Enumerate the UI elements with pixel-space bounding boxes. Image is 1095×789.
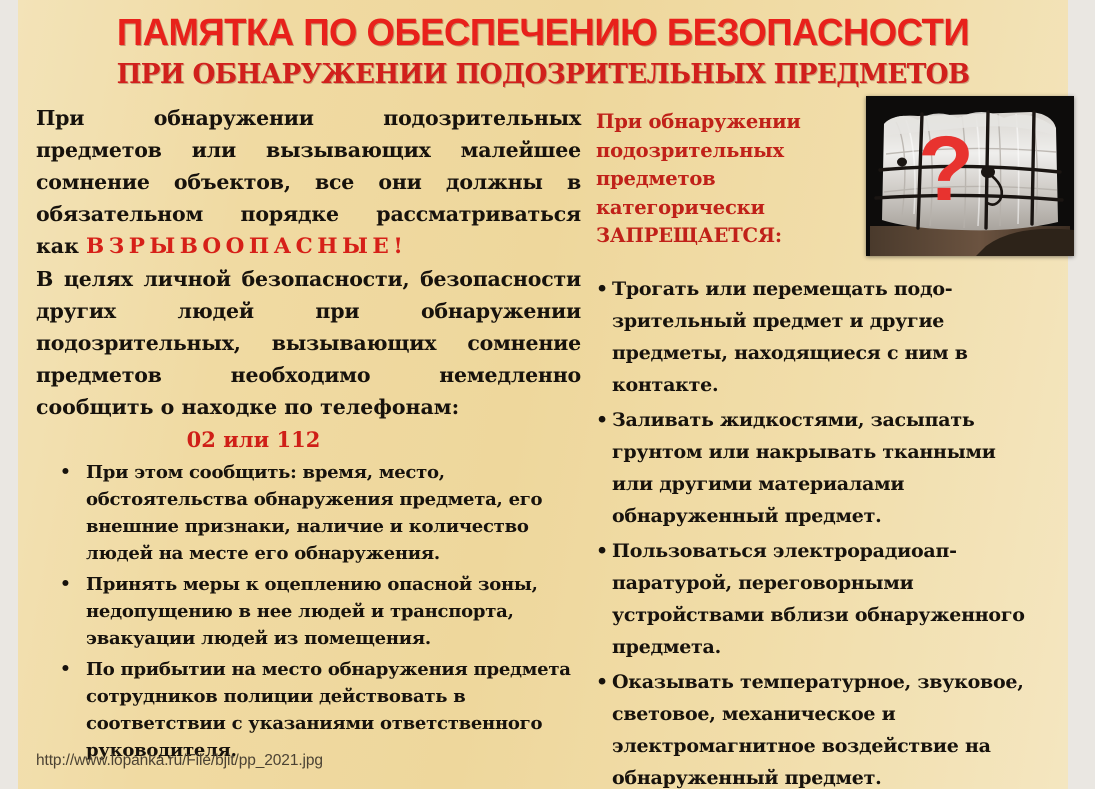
step-line: внешние признаки, наличие и количество [86,513,581,540]
step-line: Принять меры к оцеплению опасной зоны, [86,571,581,598]
prohibition-line: грунтом или накрывать тканными [612,436,1076,468]
bullet-icon: • [596,404,608,436]
action-steps-list: • При этом сообщить: время, место, обсто… [36,459,581,764]
heading-line: ЗАПРЕЩАЕТСЯ: [596,222,848,251]
bullet-icon: • [60,459,71,486]
step-line: По прибытии на место обнаружения предмет… [86,656,581,683]
bullet-icon: • [596,666,608,698]
intro-line: обязательном порядке рассматриваться [36,198,581,230]
step-line: соответствии с указаниями ответственного [86,710,581,737]
prohibition-line: предмета. [612,631,1076,663]
prohibition-line: устройствами вблизи обнаруженного [612,599,1076,631]
list-item: • Принять меры к оцеплению опасной зоны,… [36,571,581,652]
list-item: • Оказывать температурное, звуковое, све… [596,666,1076,789]
intro-line: предметов необходимо немедленно [36,359,581,391]
step-line: сотрудников полиции действовать в [86,683,581,710]
suspicious-package-photo: ? [866,96,1074,256]
prohibition-heading: При обнаружении подозрительных предметов… [596,108,848,251]
bullet-icon: • [60,656,71,683]
safety-poster: ПАМЯТКА ПО ОБЕСПЕЧЕНИЮ БЕЗОПАСНОСТИ ПРИ … [0,0,1095,789]
list-item: • При этом сообщить: время, место, обсто… [36,459,581,567]
intro-paragraph-2: В целях личной безопасности, безопасност… [36,263,581,391]
list-item: • По прибытии на место обнаружения предм… [36,656,581,764]
page-margin-left [0,0,18,789]
prohibition-line: световое, механическое и [612,698,1076,730]
suspicious-package-illustration: ? [866,96,1074,256]
prohibition-line: обнаруженный предмет. [612,500,1076,532]
step-line: недопущению в нее людей и транспорта, [86,598,581,625]
prohibition-line: электромагнитное воздействие на [612,730,1076,762]
intro-line: подозрительных, вызывающих сомнение [36,327,581,359]
left-column: При обнаружении подозрительных предметов… [36,102,581,768]
report-instruction: сообщить о находке по телефонам: [36,391,581,423]
prohibition-line: обнаруженный предмет. [612,762,1076,789]
prohibition-line: предметы, находящиеся с ним в [612,337,1076,369]
bullet-icon: • [596,535,608,567]
intro-line: других людей при обнаружении [36,295,581,327]
step-line: При этом сообщить: время, место, [86,459,581,486]
prohibition-line: Трогать или перемещать подо- [612,273,1076,305]
prohibition-line: Заливать жидкостями, засыпать [612,404,1076,436]
intro-line: предметов или вызывающих малейшее [36,134,581,166]
bullet-icon: • [596,273,608,305]
prohibition-line: паратурой, переговорными [612,567,1076,599]
prohibition-line: контакте. [612,369,1076,401]
intro-paragraph-1: При обнаружении подозрительных предметов… [36,102,581,230]
heading-line: предметов [596,165,848,194]
emergency-phone-numbers: 02 или 112 [36,425,581,455]
list-item: • Пользоваться электрорадиоап- паратурой… [596,535,1076,663]
poster-header: ПАМЯТКА ПО ОБЕСПЕЧЕНИЮ БЕЗОПАСНОСТИ ПРИ … [18,0,1068,90]
danger-prefix-label: как [36,234,79,258]
list-item: • Трогать или перемещать подо- зрительны… [596,273,1076,401]
intro-line: При обнаружении подозрительных [36,102,581,134]
poster-sheet: ПАМЯТКА ПО ОБЕСПЕЧЕНИЮ БЕЗОПАСНОСТИ ПРИ … [18,0,1068,789]
heading-line: При обнаружении [596,108,848,137]
prohibitions-list: • Трогать или перемещать подо- зрительны… [596,273,1076,789]
page-title: ПАМЯТКА ПО ОБЕСПЕЧЕНИЮ БЕЗОПАСНОСТИ [39,0,1047,54]
step-line: эвакуации людей из помещения. [86,625,581,652]
question-mark-icon: ? [918,118,974,220]
page-subtitle: ПРИ ОБНАРУЖЕНИИ ПОДОЗРИТЕЛЬНЫХ ПРЕДМЕТОВ [34,54,1053,90]
list-item: • Заливать жидкостями, засыпать грунтом … [596,404,1076,532]
heading-line: категорически [596,194,848,223]
intro-line: В целях личной безопасности, безопасност… [36,263,581,295]
bullet-icon: • [60,571,71,598]
danger-statement: как ВЗРЫВООПАСНЫЕ! [36,230,581,263]
heading-line: подозрительных [596,137,848,166]
prohibition-line: Пользоваться электрорадиоап- [612,535,1076,567]
prohibition-line: Оказывать температурное, звуковое, [612,666,1076,698]
step-line: обстоятельства обнаружения предмета, его [86,486,581,513]
step-line: людей на месте его обнаружения. [86,540,581,567]
danger-word: ВЗРЫВООПАСНЫЕ! [86,234,407,259]
source-url-text: http://www.lopanka.ru/File/bjit/pp_2021.… [36,752,323,770]
prohibition-line: зрительный предмет и другие [612,305,1076,337]
prohibition-line: или другими материалами [612,468,1076,500]
intro-line: сомнение объектов, все они должны в [36,166,581,198]
